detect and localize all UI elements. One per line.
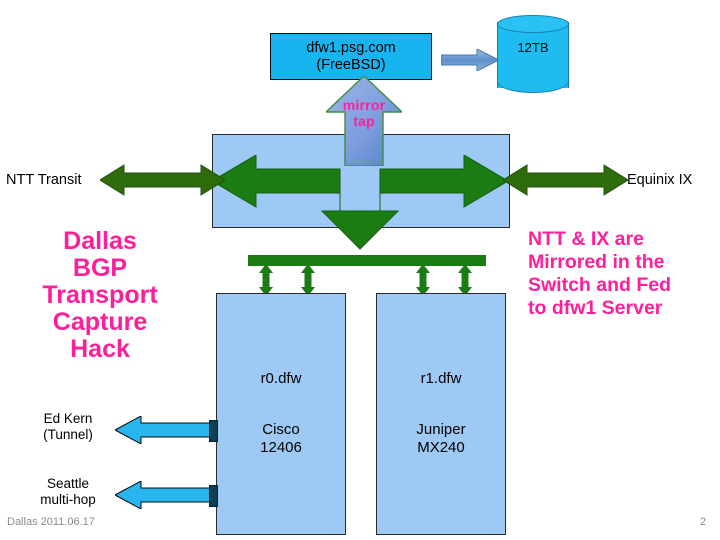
title-callout: Dallas BGP Transport Capture Hack [10,228,190,363]
title-line-1: Dallas [10,228,190,255]
equinix-ix-label: Equinix IX [627,172,692,188]
router-model-number: 12406 [260,439,302,458]
bus-drop-arrows [248,264,486,296]
right-line-1: NTT & IX are [528,228,720,251]
ed-kern-tunnel-arrow-icon [115,416,215,444]
storage-cylinder-icon[interactable]: 12TB [497,14,569,96]
mirror-tap-up-arrow-icon [326,76,402,166]
router-model-number: MX240 [416,439,465,458]
router-model: Juniper MX240 [416,421,465,459]
feed-right-arrow-icon [441,49,499,71]
storage-capacity-label: 12TB [497,40,569,55]
router-name: r0.dfw [261,370,302,389]
right-callout: NTT & IX are Mirrored in the Switch and … [528,228,720,320]
ntt-transit-label: NTT Transit [6,172,81,188]
seattle-multihop-arrow-icon [115,481,215,509]
title-line-2: BGP [10,255,190,282]
router-port-tab [209,485,218,507]
router-box-r1[interactable]: r1.dfw Juniper MX240 [376,293,506,535]
title-line-3: Transport [10,282,190,309]
right-line-3: Switch and Fed [528,274,720,297]
router-name: r1.dfw [421,370,462,389]
right-line-2: Mirrored in the [528,251,720,274]
ed-kern-line1: Ed Kern [24,411,112,427]
router-box-r0[interactable]: r0.dfw Cisco 12406 [216,293,346,535]
router-vendor: Cisco [260,421,302,440]
seattle-line1: Seattle [24,476,112,492]
cylinder-bottom [497,70,569,93]
right-line-4: to dfw1 Server [528,297,720,320]
seattle-label: Seattle multi-hop [24,476,112,509]
server-os: (FreeBSD) [316,57,385,73]
ed-kern-line2: (Tunnel) [24,427,112,443]
title-line-5: Hack [10,336,190,363]
footer-page-number: 2 [700,516,706,528]
ed-kern-label: Ed Kern (Tunnel) [24,411,112,444]
bus-drop-arrow-icon [301,264,315,296]
server-hostname: dfw1.psg.com [306,40,395,56]
router-model: Cisco 12406 [260,421,302,459]
bus-drop-arrow-icon [259,264,273,296]
ntt-peering-arrow-icon [100,163,225,197]
title-line-4: Capture [10,309,190,336]
cylinder-top [497,15,569,33]
slide-canvas: dfw1.psg.com (FreeBSD) 12TB [0,0,720,540]
bus-drop-arrow-icon [458,264,472,296]
equinix-peering-arrow-icon [503,163,628,197]
switch-mirror-arrow-icon [212,155,508,265]
footer-date: Dallas 2011.06.17 [7,516,95,528]
seattle-line2: multi-hop [24,492,112,508]
router-port-tab [209,420,218,442]
router-vendor: Juniper [416,421,465,440]
server-box[interactable]: dfw1.psg.com (FreeBSD) [270,33,432,80]
bus-drop-arrow-icon [416,264,430,296]
